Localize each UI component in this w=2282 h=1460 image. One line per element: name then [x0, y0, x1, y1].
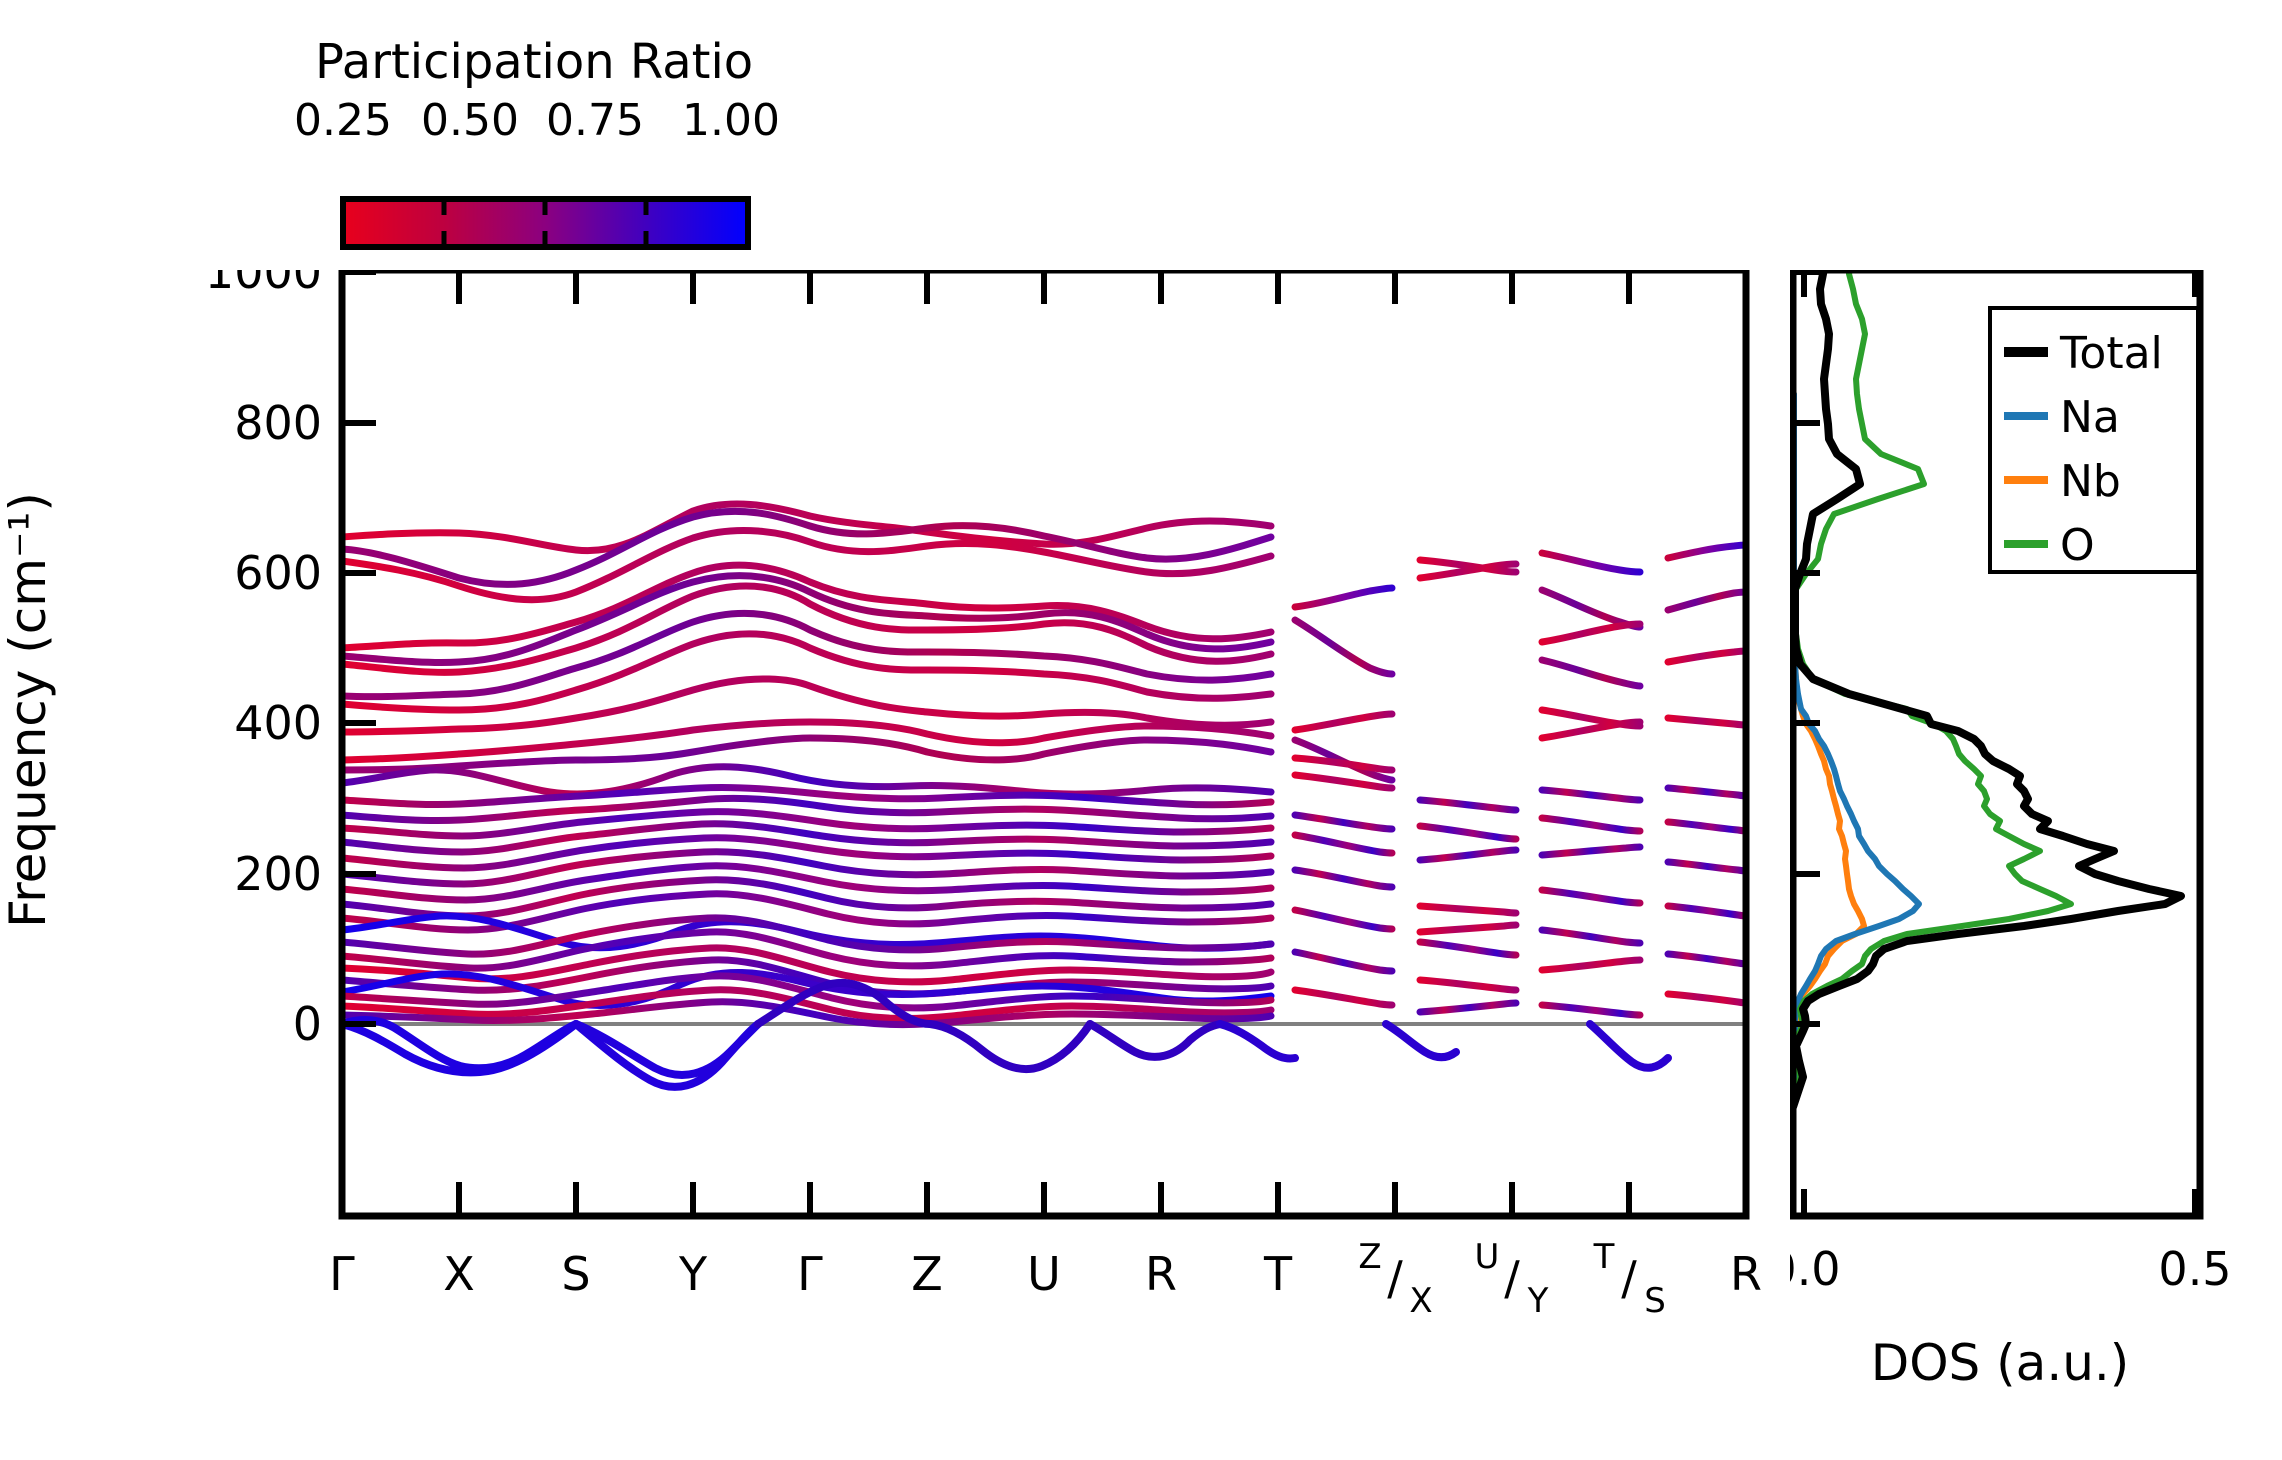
y-tick-400: 400 — [234, 696, 322, 750]
colorbar-tick-2: 0.50 — [421, 95, 519, 146]
dos-xtick-05: 0.5 — [2158, 1242, 2231, 1296]
xtick-U: U — [1027, 1247, 1061, 1301]
colorbar-group: Participation Ratio 0.25 0.50 0.75 1.00 — [0, 0, 1100, 270]
xtick-R-2: R — [1730, 1247, 1762, 1301]
band-x-tick-labels: Γ X S Y Γ Z U R T Z / X U / Y T / S R — [329, 1237, 1762, 1321]
dos-xtick-0: 0.0 — [1790, 1242, 1841, 1296]
legend-label-na: Na — [2060, 392, 2120, 443]
svg-text:X: X — [1409, 1281, 1432, 1321]
xtick-Z-over-X: Z / X — [1358, 1237, 1432, 1321]
y-axis-label: Frequency (cm⁻¹) — [0, 492, 57, 928]
band-group-mid-optical — [342, 767, 1271, 1025]
xtick-Y: Y — [678, 1247, 708, 1301]
svg-text:/: / — [1621, 1251, 1637, 1305]
svg-text:U: U — [1475, 1237, 1500, 1277]
dos-panel: Total Na Nb O 0.0 0.5 DOS (a.u.) — [1790, 270, 2282, 1460]
xtick-gamma-2: Γ — [797, 1247, 823, 1301]
y-tick-200: 200 — [234, 847, 322, 901]
xtick-T-over-S: T / S — [1593, 1237, 1666, 1321]
colorbar-tick-3: 0.75 — [546, 95, 644, 146]
svg-text:/: / — [1387, 1251, 1403, 1305]
band-structure-panel: 1000 800 600 400 200 0 Γ X S Y Γ Z U R T… — [130, 270, 1770, 1460]
legend-label-nb: Nb — [2060, 456, 2121, 507]
xtick-Z: Z — [911, 1247, 943, 1301]
dos-x-axis-label: DOS (a.u.) — [1871, 1334, 2130, 1392]
svg-text:Y: Y — [1527, 1281, 1549, 1321]
dos-x-tick-labels: 0.0 0.5 — [1790, 1242, 2232, 1296]
svg-text:/: / — [1504, 1251, 1520, 1305]
xtick-R-1: R — [1145, 1247, 1177, 1301]
xtick-S: S — [561, 1247, 590, 1301]
y-tick-800: 800 — [234, 396, 322, 450]
colorbar-tick-1: 0.25 — [294, 95, 392, 146]
xtick-gamma-1: Γ — [329, 1247, 355, 1301]
legend-label-total: Total — [2059, 328, 2163, 379]
band-group-high-optical — [342, 504, 1271, 770]
band-y-tick-labels: 1000 800 600 400 200 0 — [205, 270, 322, 1051]
colorbar-tick-4: 1.00 — [682, 95, 780, 146]
xtick-T: T — [1263, 1247, 1293, 1301]
y-tick-0: 0 — [293, 997, 322, 1051]
y-tick-600: 600 — [234, 546, 322, 600]
legend-label-o: O — [2060, 520, 2095, 571]
colorbar-title: Participation Ratio — [315, 34, 753, 90]
xtick-X: X — [443, 1247, 475, 1301]
dos-legend[interactable]: Total Na Nb O — [1990, 308, 2198, 572]
frequency-axis-label-group: Frequency (cm⁻¹) — [0, 330, 90, 1090]
band-group-disconnected-segments — [1295, 545, 1746, 1015]
y-tick-1000: 1000 — [205, 270, 322, 299]
svg-text:T: T — [1593, 1237, 1615, 1277]
svg-text:S: S — [1644, 1281, 1666, 1321]
svg-text:Z: Z — [1358, 1237, 1381, 1277]
xtick-U-over-Y: U / Y — [1475, 1237, 1549, 1321]
